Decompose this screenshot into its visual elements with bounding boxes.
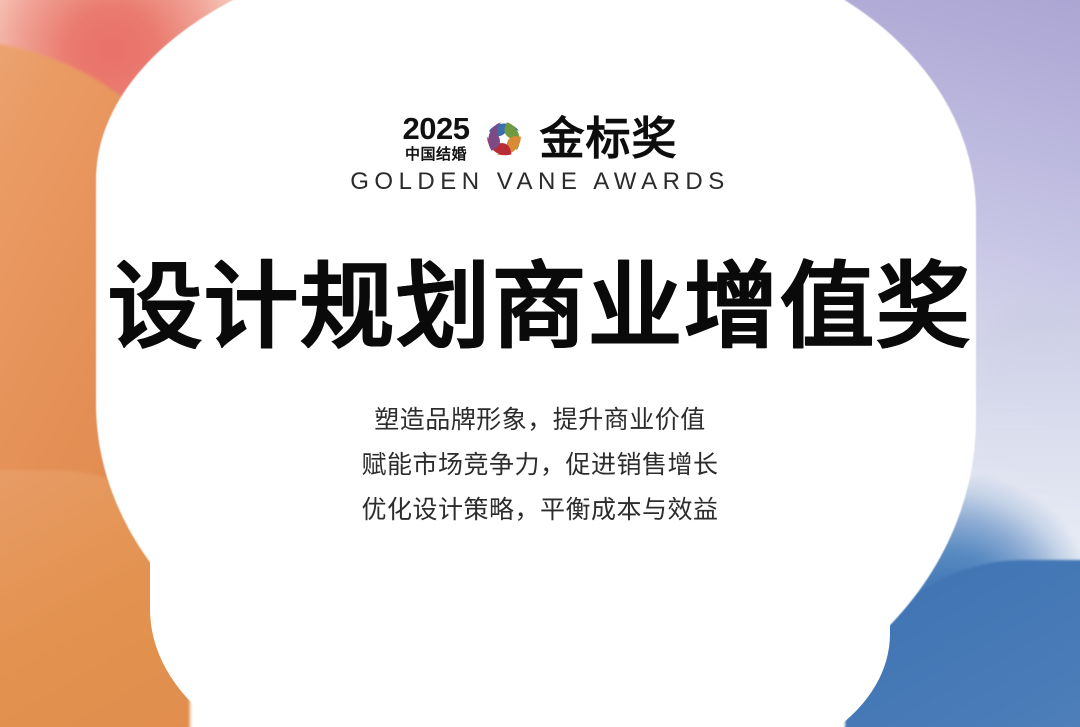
logo-year-block: 2025 中国结婚 bbox=[403, 113, 470, 164]
subtitle-line-1: 塑造品牌形象，提升商业价值 bbox=[374, 405, 706, 435]
logo-name-en: GOLDEN VANE AWARDS bbox=[350, 168, 730, 196]
subtitle-line-2: 赋能市场竞争力，促进销售增长 bbox=[361, 450, 718, 480]
logo-primary-row: 2025 中国结婚 bbox=[403, 113, 678, 164]
logo-year: 2025 bbox=[403, 113, 470, 144]
pinwheel-icon bbox=[479, 114, 529, 164]
subtitle-line-3: 优化设计策略，平衡成本与效益 bbox=[361, 495, 718, 525]
award-poster: 2025 中国结婚 bbox=[0, 0, 1080, 727]
poster-content: 2025 中国结婚 bbox=[0, 0, 1080, 727]
award-logo: 2025 中国结婚 bbox=[350, 113, 730, 196]
page-title: 设计规划商业增值奖 bbox=[108, 258, 972, 357]
subtitle-block: 塑造品牌形象，提升商业价值 赋能市场竞争力，促进销售增长 优化设计策略，平衡成本… bbox=[361, 405, 718, 525]
logo-organization-cn: 中国结婚 bbox=[405, 147, 467, 162]
logo-name-cn: 金标奖 bbox=[539, 116, 677, 161]
